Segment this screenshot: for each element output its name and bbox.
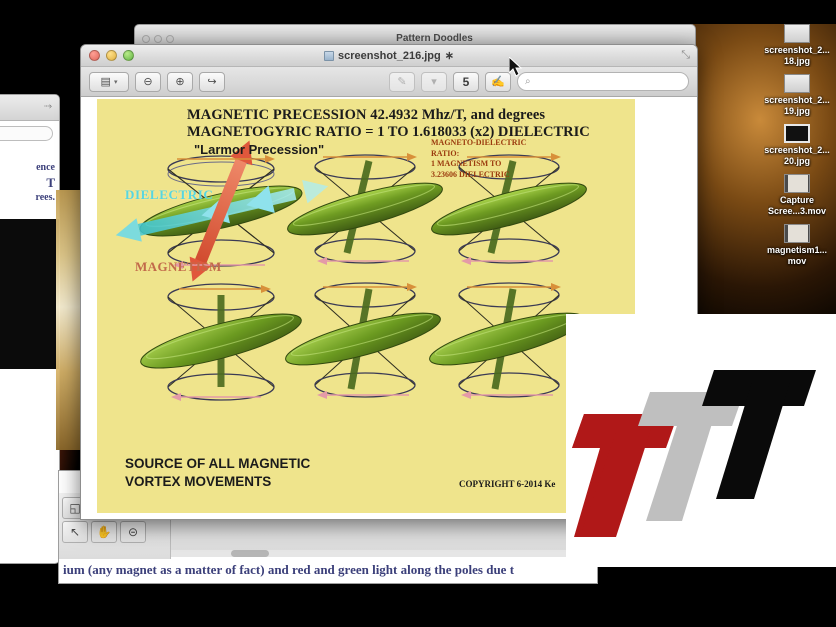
label-magnetism: MAGNETISM: [135, 259, 222, 275]
zoom-icon[interactable]: [166, 35, 174, 43]
ttt-logo-icon: [566, 314, 836, 567]
desktop-icon-list: screenshot_2... 18.jpg screenshot_2... 1…: [758, 24, 836, 267]
select-arrow-icon[interactable]: ↖: [62, 521, 88, 543]
close-icon[interactable]: [142, 35, 150, 43]
left-window-titlebar[interactable]: ⤑: [0, 95, 59, 121]
magnetic-vortex-diagram: [97, 99, 635, 513]
left-black-panel: ION tism: [0, 219, 60, 369]
letterbox-bottom: [0, 587, 836, 627]
letterbox-top: [0, 0, 836, 24]
ttt-logo-panel: [566, 314, 836, 567]
magneto-dielectric-ratio-note: MAGNETO-DIELECTRIC RATIO: 1 MAGNETISM TO…: [431, 138, 526, 180]
annotate-chevron-button[interactable]: ▾: [421, 72, 447, 92]
desktop-icon-label: screenshot_2... 18.jpg: [764, 45, 830, 67]
left-text-fragment-2: T: [0, 175, 57, 190]
screen: Pattern Doodles ⤑ ence T rees. ION tism …: [0, 0, 836, 627]
hand-icon[interactable]: ✋: [91, 521, 117, 543]
lower-window-caption: ium (any magnet as a matter of fact) and…: [59, 557, 597, 583]
zoom-out-button[interactable]: ⊖: [135, 72, 161, 92]
left-text-fragment-1: ence: [0, 160, 57, 175]
scrollbar-thumb[interactable]: [231, 550, 269, 557]
chevron-down-icon: ▾: [114, 78, 118, 86]
markup-button[interactable]: ✍: [485, 72, 511, 92]
sidebar-toggle-button[interactable]: ▤ ▾: [89, 72, 129, 92]
slide-image: MAGNETIC PRECESSION 42.4932 Mhz/T, and d…: [97, 99, 635, 513]
left-window-search-field[interactable]: [0, 126, 53, 141]
main-window-titlebar[interactable]: screenshot_216.jpg ∗ ⤡: [81, 45, 697, 67]
left-green-fragment: ION: [0, 225, 60, 237]
movie-file-icon: [784, 174, 810, 193]
modified-mark: ∗: [445, 49, 454, 62]
desktop-icon-label: magnetism1... mov: [767, 245, 827, 267]
minimize-icon[interactable]: [154, 35, 162, 43]
main-window-title-group: screenshot_216.jpg ∗: [81, 49, 697, 62]
mouse-cursor-icon: [509, 57, 523, 77]
fullscreen-icon[interactable]: ⤡: [681, 49, 690, 62]
desktop-icon-screenshot-20[interactable]: screenshot_2... 20.jpg: [758, 124, 836, 167]
slide-copyright: COPYRIGHT 6-2014 Ke: [459, 479, 555, 489]
left-text-fragment-3: rees.: [0, 190, 57, 205]
search-input[interactable]: ⌕: [517, 72, 689, 91]
slide-heading-1: MAGNETIC PRECESSION 42.4932 Mhz/T, and d…: [187, 107, 545, 124]
page-number-field[interactable]: 5: [453, 72, 479, 92]
desktop-icon-capture-screen-mov[interactable]: Capture Scree...3.mov: [758, 174, 836, 217]
zoom-in-button[interactable]: ⊕: [167, 72, 193, 92]
background-window-title: Pattern Doodles: [174, 33, 695, 44]
slide-bottom-text: SOURCE OF ALL MAGNETIC VORTEX MOVEMENTS: [125, 455, 310, 491]
zoom-out-icon[interactable]: ⊝: [120, 521, 146, 543]
search-icon: ⌕: [525, 76, 531, 87]
slide-heading-2: MAGNETOGYRIC RATIO = 1 TO 1.618033 (x2) …: [187, 124, 590, 141]
share-button[interactable]: ↪: [199, 72, 225, 92]
window-traffic-lights[interactable]: [135, 35, 174, 43]
left-partial-window[interactable]: ⤑ ence T rees. ION tism: [0, 94, 60, 564]
main-window-toolbar[interactable]: ▤ ▾ ⊖ ⊕ ↪ ✎ ▾ 5 ✍ ⌕: [81, 67, 697, 97]
desktop-icon-screenshot-18[interactable]: screenshot_2... 18.jpg: [758, 24, 836, 67]
desktop-icon-label: screenshot_2... 20.jpg: [764, 145, 830, 167]
image-file-icon: [784, 74, 810, 93]
horizontal-scrollbar[interactable]: [171, 550, 593, 557]
desktop-icon-magnetism1-mov[interactable]: magnetism1... mov: [758, 224, 836, 267]
movie-file-icon: [784, 224, 810, 243]
lower-toolbar-row-2[interactable]: ↖ ✋ ⊝: [62, 521, 167, 543]
desktop-icon-screenshot-19[interactable]: screenshot_2... 19.jpg: [758, 74, 836, 117]
label-dielectric: DIELECTRIC: [125, 187, 213, 203]
image-file-icon: [784, 24, 810, 43]
sidebar-icon: ▤: [101, 75, 111, 88]
left-window-body: ence T rees. ION tism: [0, 146, 59, 369]
page-number-value: 5: [463, 75, 470, 89]
annotate-button[interactable]: ✎: [389, 72, 415, 92]
left-white-fragment: tism: [0, 333, 60, 345]
desktop-icon-label: screenshot_2... 19.jpg: [764, 95, 830, 117]
slide-heading-3: "Larmor Precession": [194, 142, 324, 157]
expand-icon[interactable]: ⤑: [44, 102, 54, 112]
main-window-title: screenshot_216.jpg: [338, 50, 441, 62]
desktop-icon-label: Capture Scree...3.mov: [768, 195, 826, 217]
image-file-icon: [784, 124, 810, 143]
document-icon: [324, 51, 334, 61]
